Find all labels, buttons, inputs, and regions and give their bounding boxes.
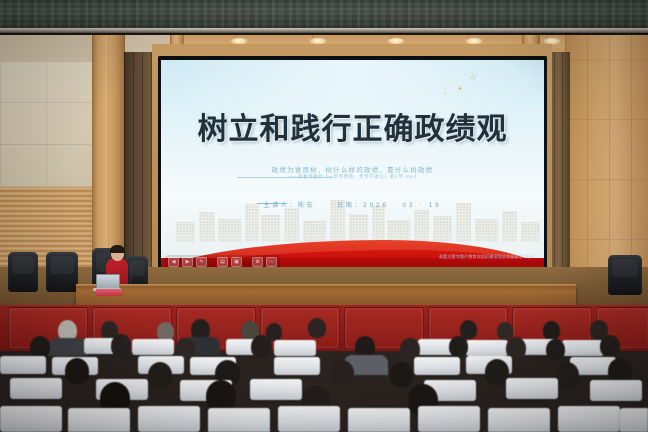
- slide-subtitle-line1: 政绩为谁而树、树什么样的政绩、靠什么树政绩: [161, 164, 544, 174]
- pen-tool-button[interactable]: ✎: [196, 257, 207, 267]
- attendee-head: [111, 334, 131, 357]
- attendee-head: [546, 339, 565, 360]
- head-table-chair-5: [608, 255, 642, 295]
- seat: [278, 406, 340, 432]
- date-label: 日期：: [337, 202, 363, 209]
- more-options-button[interactable]: ⋯: [266, 257, 277, 267]
- seat: [466, 340, 508, 356]
- seat: [0, 356, 46, 374]
- seat: [0, 406, 62, 432]
- seat: [558, 406, 620, 432]
- seat: [250, 379, 302, 400]
- attendee-head: [600, 335, 620, 357]
- dove-icon-2: ✦: [457, 86, 464, 94]
- attendee-head: [555, 362, 579, 388]
- seat: [562, 340, 604, 356]
- attendee-head: [449, 336, 468, 357]
- attendee-head: [30, 336, 50, 358]
- slide-meta-line: 主讲人：陈宏日期：2026 · 03 · 19: [161, 200, 544, 209]
- attendee-head: [308, 318, 326, 338]
- attendee-shoulder: [48, 338, 88, 356]
- head-table-chair-1: [8, 252, 38, 292]
- presenter-nameplate: [96, 289, 122, 296]
- seat: [348, 408, 410, 432]
- speaker-label: 主讲人：: [264, 202, 298, 209]
- conference-hall-scene: ✣ ✦ ✧ ✢ 树立和践行正确政绩观 政绩为谁而树、树什么样的政绩、靠什么树政: [0, 0, 648, 432]
- zoom-button[interactable]: ⊕: [252, 257, 263, 267]
- audience-area: [0, 312, 648, 432]
- slide-title: 树立和践行正确政绩观: [161, 104, 544, 148]
- speaker-name: 陈宏: [298, 202, 315, 209]
- seat: [68, 408, 130, 432]
- dove-icon-3: ✧: [443, 92, 448, 97]
- presenter-hair: [110, 245, 125, 253]
- menu-button[interactable]: ▤: [217, 257, 228, 267]
- seat: [506, 378, 558, 399]
- ceiling-texture: [0, 0, 648, 30]
- presentation-slide[interactable]: ✣ ✦ ✧ ✢ 树立和践行正确政绩观 政绩为谁而树、树什么样的政绩、靠什么树政: [161, 60, 544, 274]
- screen-options-button[interactable]: ▣: [231, 257, 242, 267]
- dove-icon-1: ✣: [469, 73, 479, 84]
- attendee-head: [330, 360, 354, 386]
- seat: [10, 378, 62, 399]
- seat: [132, 339, 174, 355]
- attendee-head: [251, 335, 272, 358]
- attendee-head: [65, 358, 89, 384]
- attendee-head: [390, 362, 413, 387]
- seat: [488, 408, 550, 432]
- acoustic-panel-left: [0, 62, 92, 187]
- date-value: 2026 · 03 · 19: [363, 202, 441, 209]
- slide-file-label: 观看主题专题片教育党组织建设党员发展要求.mp4: [439, 254, 534, 260]
- next-slide-button[interactable]: ▶: [182, 257, 193, 267]
- attendee-head: [148, 362, 172, 388]
- seat: [208, 408, 270, 432]
- head-table-chair-2: [46, 252, 78, 292]
- attendee-head: [543, 321, 560, 340]
- previous-slide-button[interactable]: ◀: [168, 257, 179, 267]
- seat: [414, 357, 460, 375]
- seat: [274, 340, 316, 356]
- slide-subtitle-line2: ——观看专题片《一步不停歇、步步不退让》第1节.mp4: [161, 174, 544, 180]
- seat: [590, 380, 642, 401]
- seat: [274, 357, 320, 375]
- seat: [138, 406, 200, 432]
- seat: [620, 408, 648, 432]
- wood-pillar-left: [92, 35, 125, 267]
- seat: [418, 406, 480, 432]
